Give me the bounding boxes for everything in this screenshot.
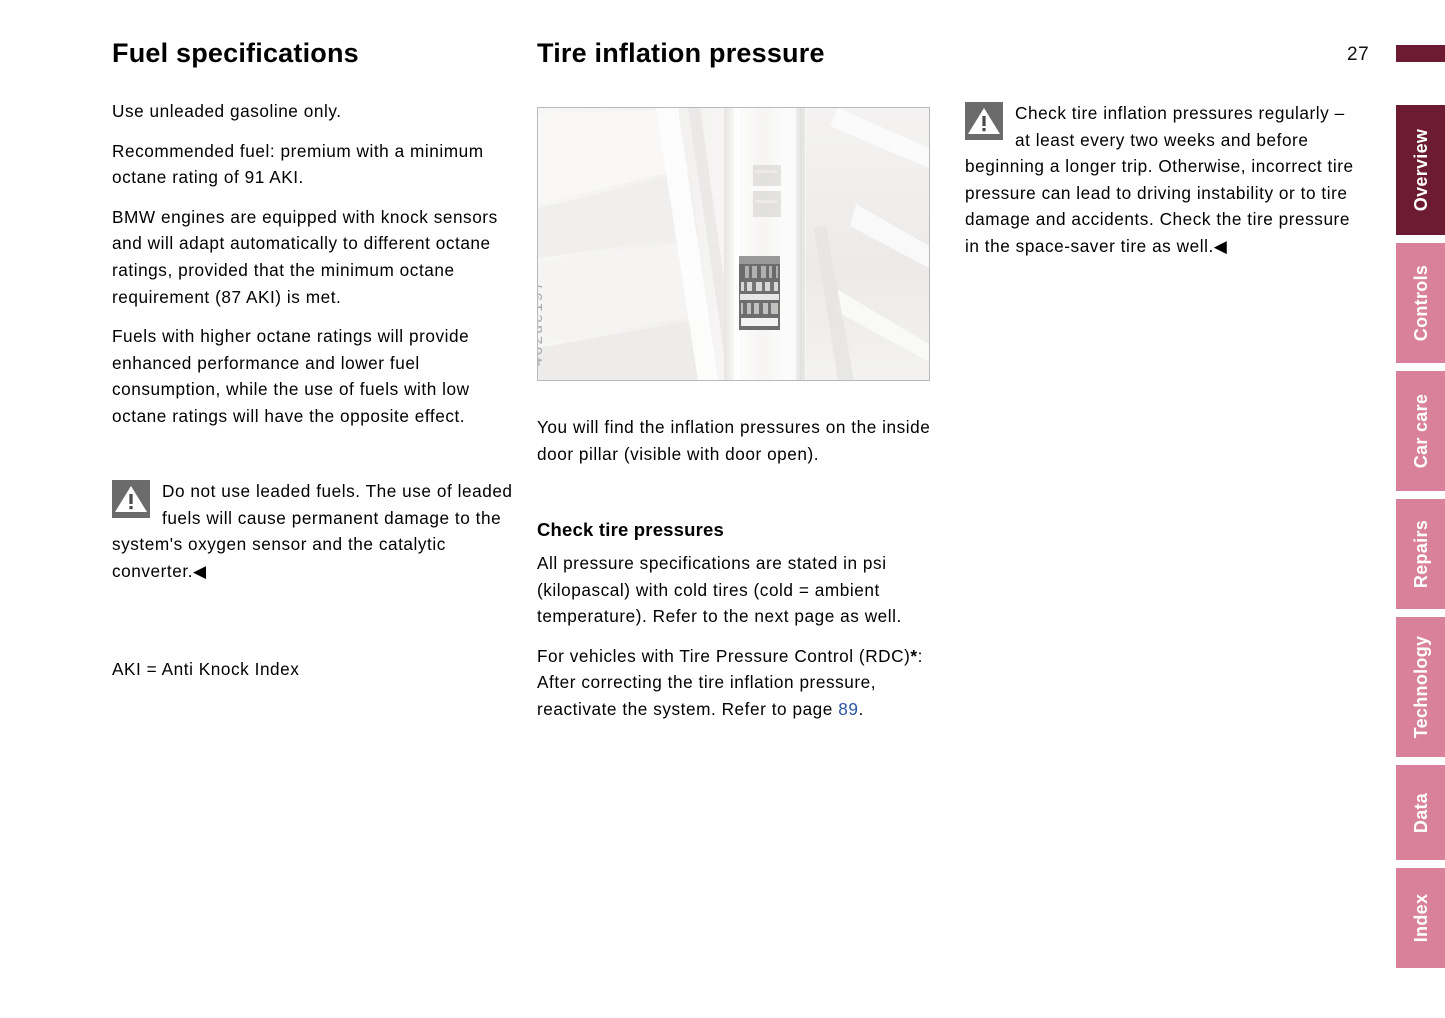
- subheading-check-tire-pressures: Check tire pressures: [537, 519, 724, 541]
- sidebar-item-label: Repairs: [1412, 520, 1430, 588]
- warning-text: Check tire inflation pressures regularly…: [965, 103, 1354, 256]
- warning-triangle-icon: [112, 480, 150, 518]
- paragraph: All pressure specifications are stated i…: [537, 550, 942, 630]
- photo-caption: 462de197: [537, 279, 546, 366]
- rdc-body: After correcting the tire inflation pres…: [537, 672, 876, 719]
- paragraph: BMW engines are equipped with knock sens…: [112, 204, 520, 310]
- sidebar-item-data[interactable]: Data: [1396, 765, 1445, 860]
- sidebar-item-technology[interactable]: Technology: [1396, 617, 1445, 757]
- sidebar-item-label: Overview: [1412, 129, 1430, 211]
- fuel-specifications-body: Use unleaded gasoline only. Recommended …: [112, 98, 520, 443]
- door-pillar-photo: 462de197: [537, 107, 930, 381]
- rdc-body-end: .: [858, 699, 863, 719]
- sidebar-item-overview[interactable]: Overview: [1396, 105, 1445, 235]
- rdc-colon: :: [918, 646, 923, 666]
- sidebar-item-label: Car care: [1412, 394, 1430, 468]
- warning-note-leaded-fuel: Do not use leaded fuels. The use of lead…: [112, 478, 520, 584]
- page-title-fuel-specifications: Fuel specifications: [112, 38, 359, 69]
- footnote-aki: AKI = Anti Knock Index: [112, 656, 520, 683]
- rdc-paragraph: For vehicles with Tire Pressure Control …: [537, 643, 942, 723]
- photo-description: You will find the inflation pressures on…: [537, 414, 942, 467]
- sidebar-item-label: Index: [1412, 894, 1430, 943]
- sidebar-item-label: Technology: [1412, 636, 1430, 739]
- tire-pressure-body: All pressure specifications are stated i…: [537, 550, 942, 723]
- warning-triangle-icon: [965, 102, 1003, 140]
- paragraph: Fuels with higher octane ratings will pr…: [112, 323, 520, 429]
- page-reference-link[interactable]: 89: [838, 699, 858, 719]
- sidebar-item-controls[interactable]: Controls: [1396, 243, 1445, 363]
- warning-text: Do not use leaded fuels. The use of lead…: [112, 481, 513, 581]
- photo-image: [538, 108, 929, 380]
- section-tab-rail: Overview Controls Car care Repairs Techn…: [1396, 0, 1445, 1018]
- paragraph: Recommended fuel: premium with a minimum…: [112, 138, 520, 191]
- paragraph: Use unleaded gasoline only.: [112, 98, 520, 125]
- sidebar-item-index[interactable]: Index: [1396, 868, 1445, 968]
- rdc-lead: For vehicles with Tire Pressure Control …: [537, 646, 910, 666]
- warning-note-check-tire-pressure: Check tire inflation pressures regularly…: [965, 100, 1365, 260]
- page-title-tire-inflation-pressure: Tire inflation pressure: [537, 38, 825, 69]
- sidebar-item-car-care[interactable]: Car care: [1396, 371, 1445, 491]
- sidebar-item-label: Controls: [1412, 265, 1430, 341]
- rdc-asterisk: *: [910, 646, 917, 666]
- sidebar-item-repairs[interactable]: Repairs: [1396, 499, 1445, 609]
- manual-page: { "page": { "number": "27", "accent_dark…: [0, 0, 1445, 1018]
- page-number: 27: [1347, 44, 1369, 66]
- sidebar-item-label: Data: [1412, 792, 1430, 832]
